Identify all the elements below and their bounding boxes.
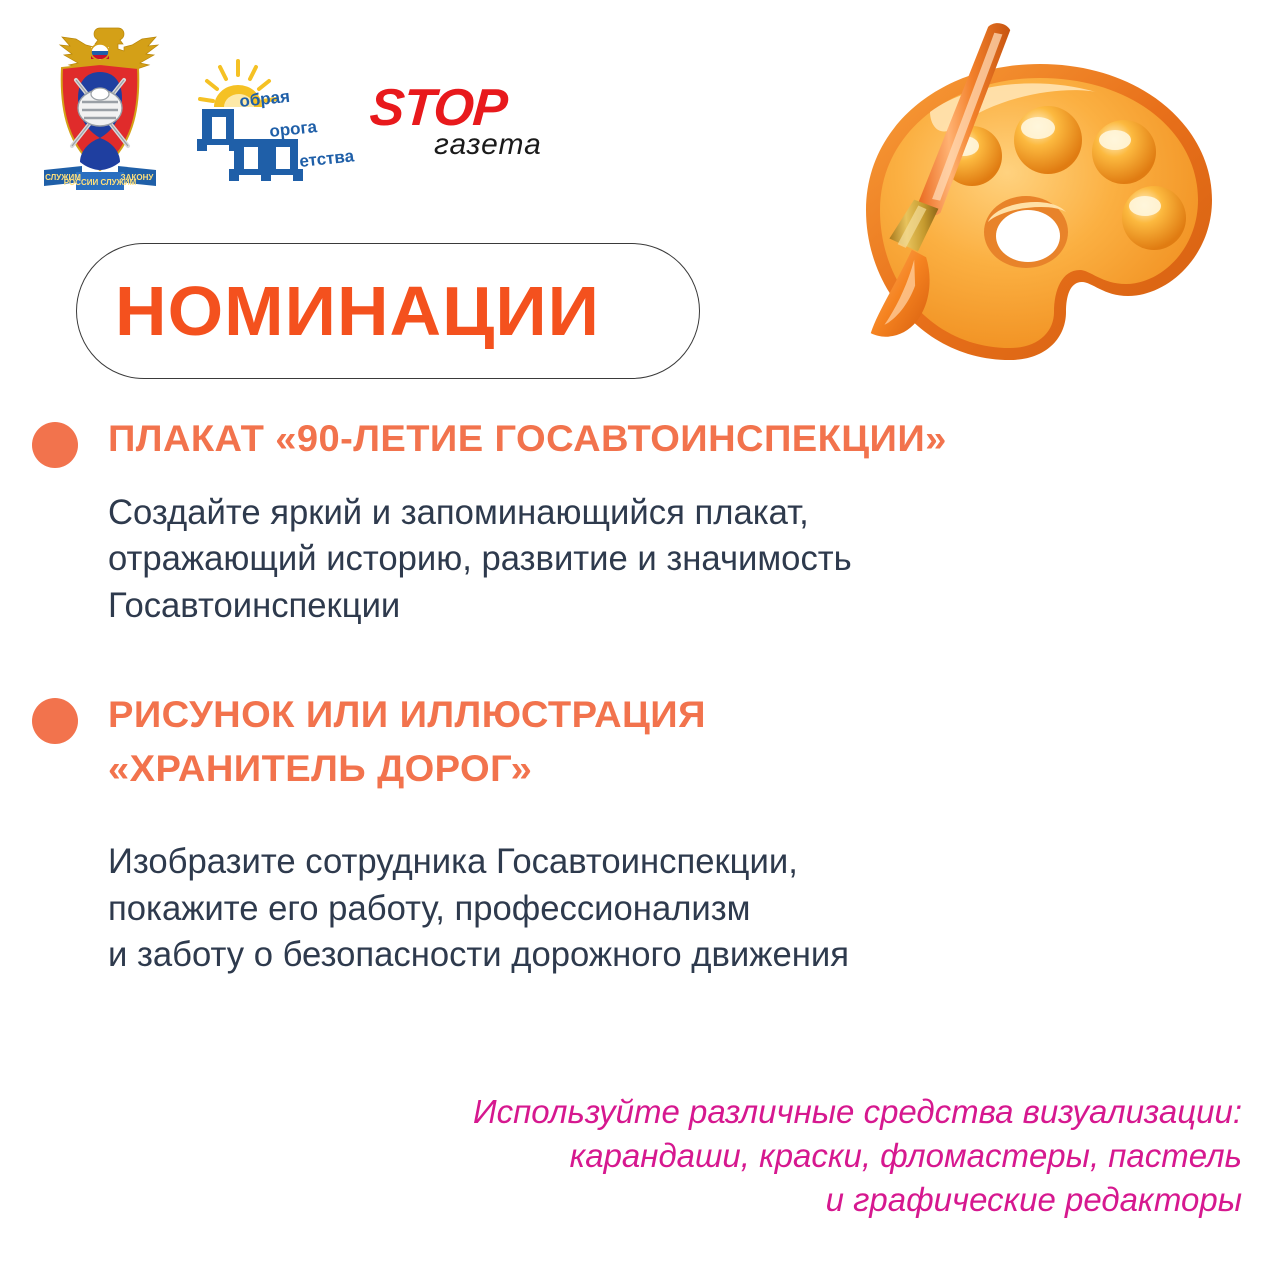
mvd-emblem-logo: СЛУЖИМ ЗАКОНУ РОССИИ СЛУЖИМ — [36, 20, 164, 195]
bullet-dot-icon — [32, 698, 78, 744]
ddd-sun-icon: обрая орога етства — [190, 55, 360, 185]
footer-note: Используйте различные средства визуализа… — [292, 1090, 1242, 1222]
svg-text:орога: орога — [268, 117, 318, 141]
nomination-item-1: ПЛАКАТ «90-ЛЕТИЕ ГОСАВТОИНСПЕКЦИИ» Созда… — [0, 412, 1280, 629]
nomination-2-title: РИСУНОК ИЛИ ИЛЛЮСТРАЦИЯ «ХРАНИТЕЛЬ ДОРОГ… — [108, 688, 1280, 795]
page-title: НОМИНАЦИИ — [115, 276, 600, 346]
gazeta-logo-word: газета — [434, 130, 542, 160]
nomination-1-description: Создайте яркий и запоминающийся плакат, … — [108, 490, 1268, 630]
page-title-pill: НОМИНАЦИИ — [76, 243, 700, 379]
palette-illustration — [812, 18, 1252, 400]
nomination-2-description: Изобразите сотрудника Госавтоинспекции, … — [108, 839, 1268, 979]
paint-palette-icon — [812, 18, 1252, 400]
svg-text:обрая: обрая — [238, 87, 290, 111]
stop-gazeta-logo: STOP газета — [370, 82, 545, 167]
poster-canvas: СЛУЖИМ ЗАКОНУ РОССИИ СЛУЖИМ — [0, 0, 1280, 1280]
svg-text:етства: етства — [298, 146, 355, 171]
ddd-logo: обрая орога етства — [190, 55, 360, 185]
stop-logo-word: STOP — [368, 82, 508, 134]
bullet-dot-icon — [32, 422, 78, 468]
mvd-emblem-icon: СЛУЖИМ ЗАКОНУ РОССИИ СЛУЖИМ — [36, 20, 164, 195]
nomination-item-2: РИСУНОК ИЛИ ИЛЛЮСТРАЦИЯ «ХРАНИТЕЛЬ ДОРОГ… — [0, 688, 1280, 979]
nomination-2-heading-row: РИСУНОК ИЛИ ИЛЛЮСТРАЦИЯ «ХРАНИТЕЛЬ ДОРОГ… — [0, 688, 1280, 795]
nomination-1-heading-row: ПЛАКАТ «90-ЛЕТИЕ ГОСАВТОИНСПЕКЦИИ» — [0, 412, 1280, 466]
nomination-1-title: ПЛАКАТ «90-ЛЕТИЕ ГОСАВТОИНСПЕКЦИИ» — [108, 412, 1280, 466]
svg-text:РОССИИ СЛУЖИМ: РОССИИ СЛУЖИМ — [64, 178, 137, 187]
